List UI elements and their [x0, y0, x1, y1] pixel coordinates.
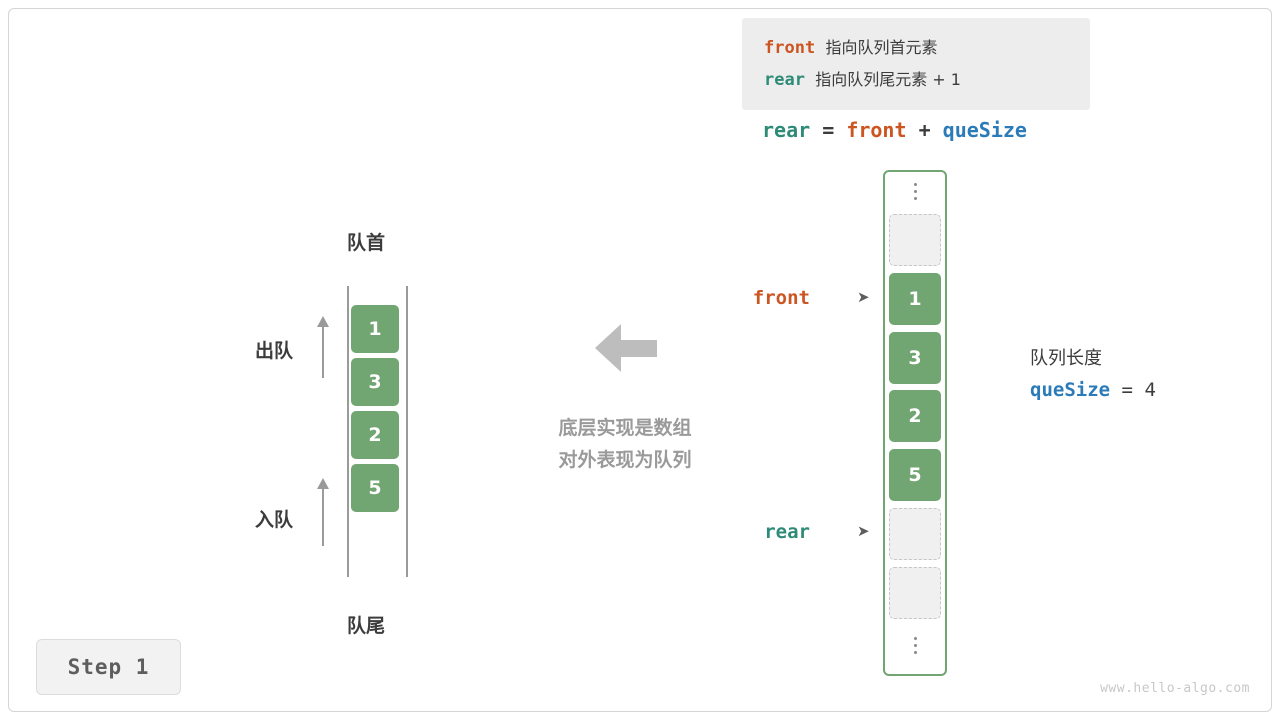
formula-quesize: queSize	[943, 118, 1027, 142]
queue-cell: 3	[351, 358, 399, 406]
queue-cell: 1	[351, 305, 399, 353]
front-pointer-label: front	[700, 287, 810, 309]
array-slot-empty	[889, 508, 941, 560]
left-arrow-icon	[595, 324, 657, 372]
dequeue-label: 出队	[255, 336, 293, 363]
array-ellipsis-top	[889, 178, 941, 204]
quesize-number: 4	[1144, 379, 1155, 401]
front-pointer-arrow-icon: ➤	[857, 288, 870, 306]
formula-rear: rear	[762, 118, 810, 142]
queue-head-label: 队首	[347, 228, 385, 255]
middle-caption: 底层实现是数组 对外表现为队列	[530, 412, 720, 476]
formula-front: front	[846, 118, 906, 142]
note-rear-line: rear 指向队列尾元素 + 1	[764, 64, 1090, 96]
enqueue-label: 入队	[255, 505, 293, 532]
queue-length-label: 队列长度	[1030, 344, 1102, 370]
step-badge: Step 1	[36, 639, 181, 695]
diagram-canvas: 队首 队尾 出队 入队 1 3 2 5 底层实现是数组 对外表现为队列 fron…	[0, 0, 1280, 720]
queue-rail-right	[406, 286, 408, 577]
note-front-line: front 指向队列首元素	[764, 32, 1090, 64]
middle-caption-line1: 底层实现是数组	[530, 412, 720, 444]
rear-pointer-arrow-icon: ➤	[857, 522, 870, 540]
array-slot-filled: 2	[889, 390, 941, 442]
middle-caption-line2: 对外表现为队列	[530, 444, 720, 476]
array-slot-filled: 3	[889, 332, 941, 384]
quesize-equals: =	[1122, 379, 1133, 401]
array-slot-empty	[889, 567, 941, 619]
quesize-value-line: queSize = 4	[1030, 379, 1156, 401]
queue-cell: 2	[351, 411, 399, 459]
quesize-keyword: queSize	[1030, 379, 1110, 401]
pointer-note-box: front 指向队列首元素 rear 指向队列尾元素 + 1	[742, 18, 1090, 110]
queue-rail-left	[347, 286, 349, 577]
note-rear-text: 指向队列尾元素 + 1	[815, 70, 961, 89]
formula-equals: =	[822, 118, 834, 142]
queue-tail-label: 队尾	[347, 611, 385, 638]
array-slot-filled: 5	[889, 449, 941, 501]
array-slot-empty	[889, 214, 941, 266]
array-slot-filled: 1	[889, 273, 941, 325]
array-ellipsis-bottom	[889, 632, 941, 658]
queue-cell: 5	[351, 464, 399, 512]
enqueue-arrow-icon	[315, 478, 331, 546]
rear-pointer-label: rear	[700, 521, 810, 543]
dequeue-arrow-icon	[315, 316, 331, 378]
watermark: www.hello-algo.com	[1100, 681, 1250, 696]
note-front-keyword: front	[764, 38, 815, 58]
note-front-text: 指向队列首元素	[825, 38, 937, 57]
rear-formula: rear = front + queSize	[762, 118, 1027, 142]
note-rear-keyword: rear	[764, 70, 805, 90]
formula-plus: +	[919, 118, 931, 142]
